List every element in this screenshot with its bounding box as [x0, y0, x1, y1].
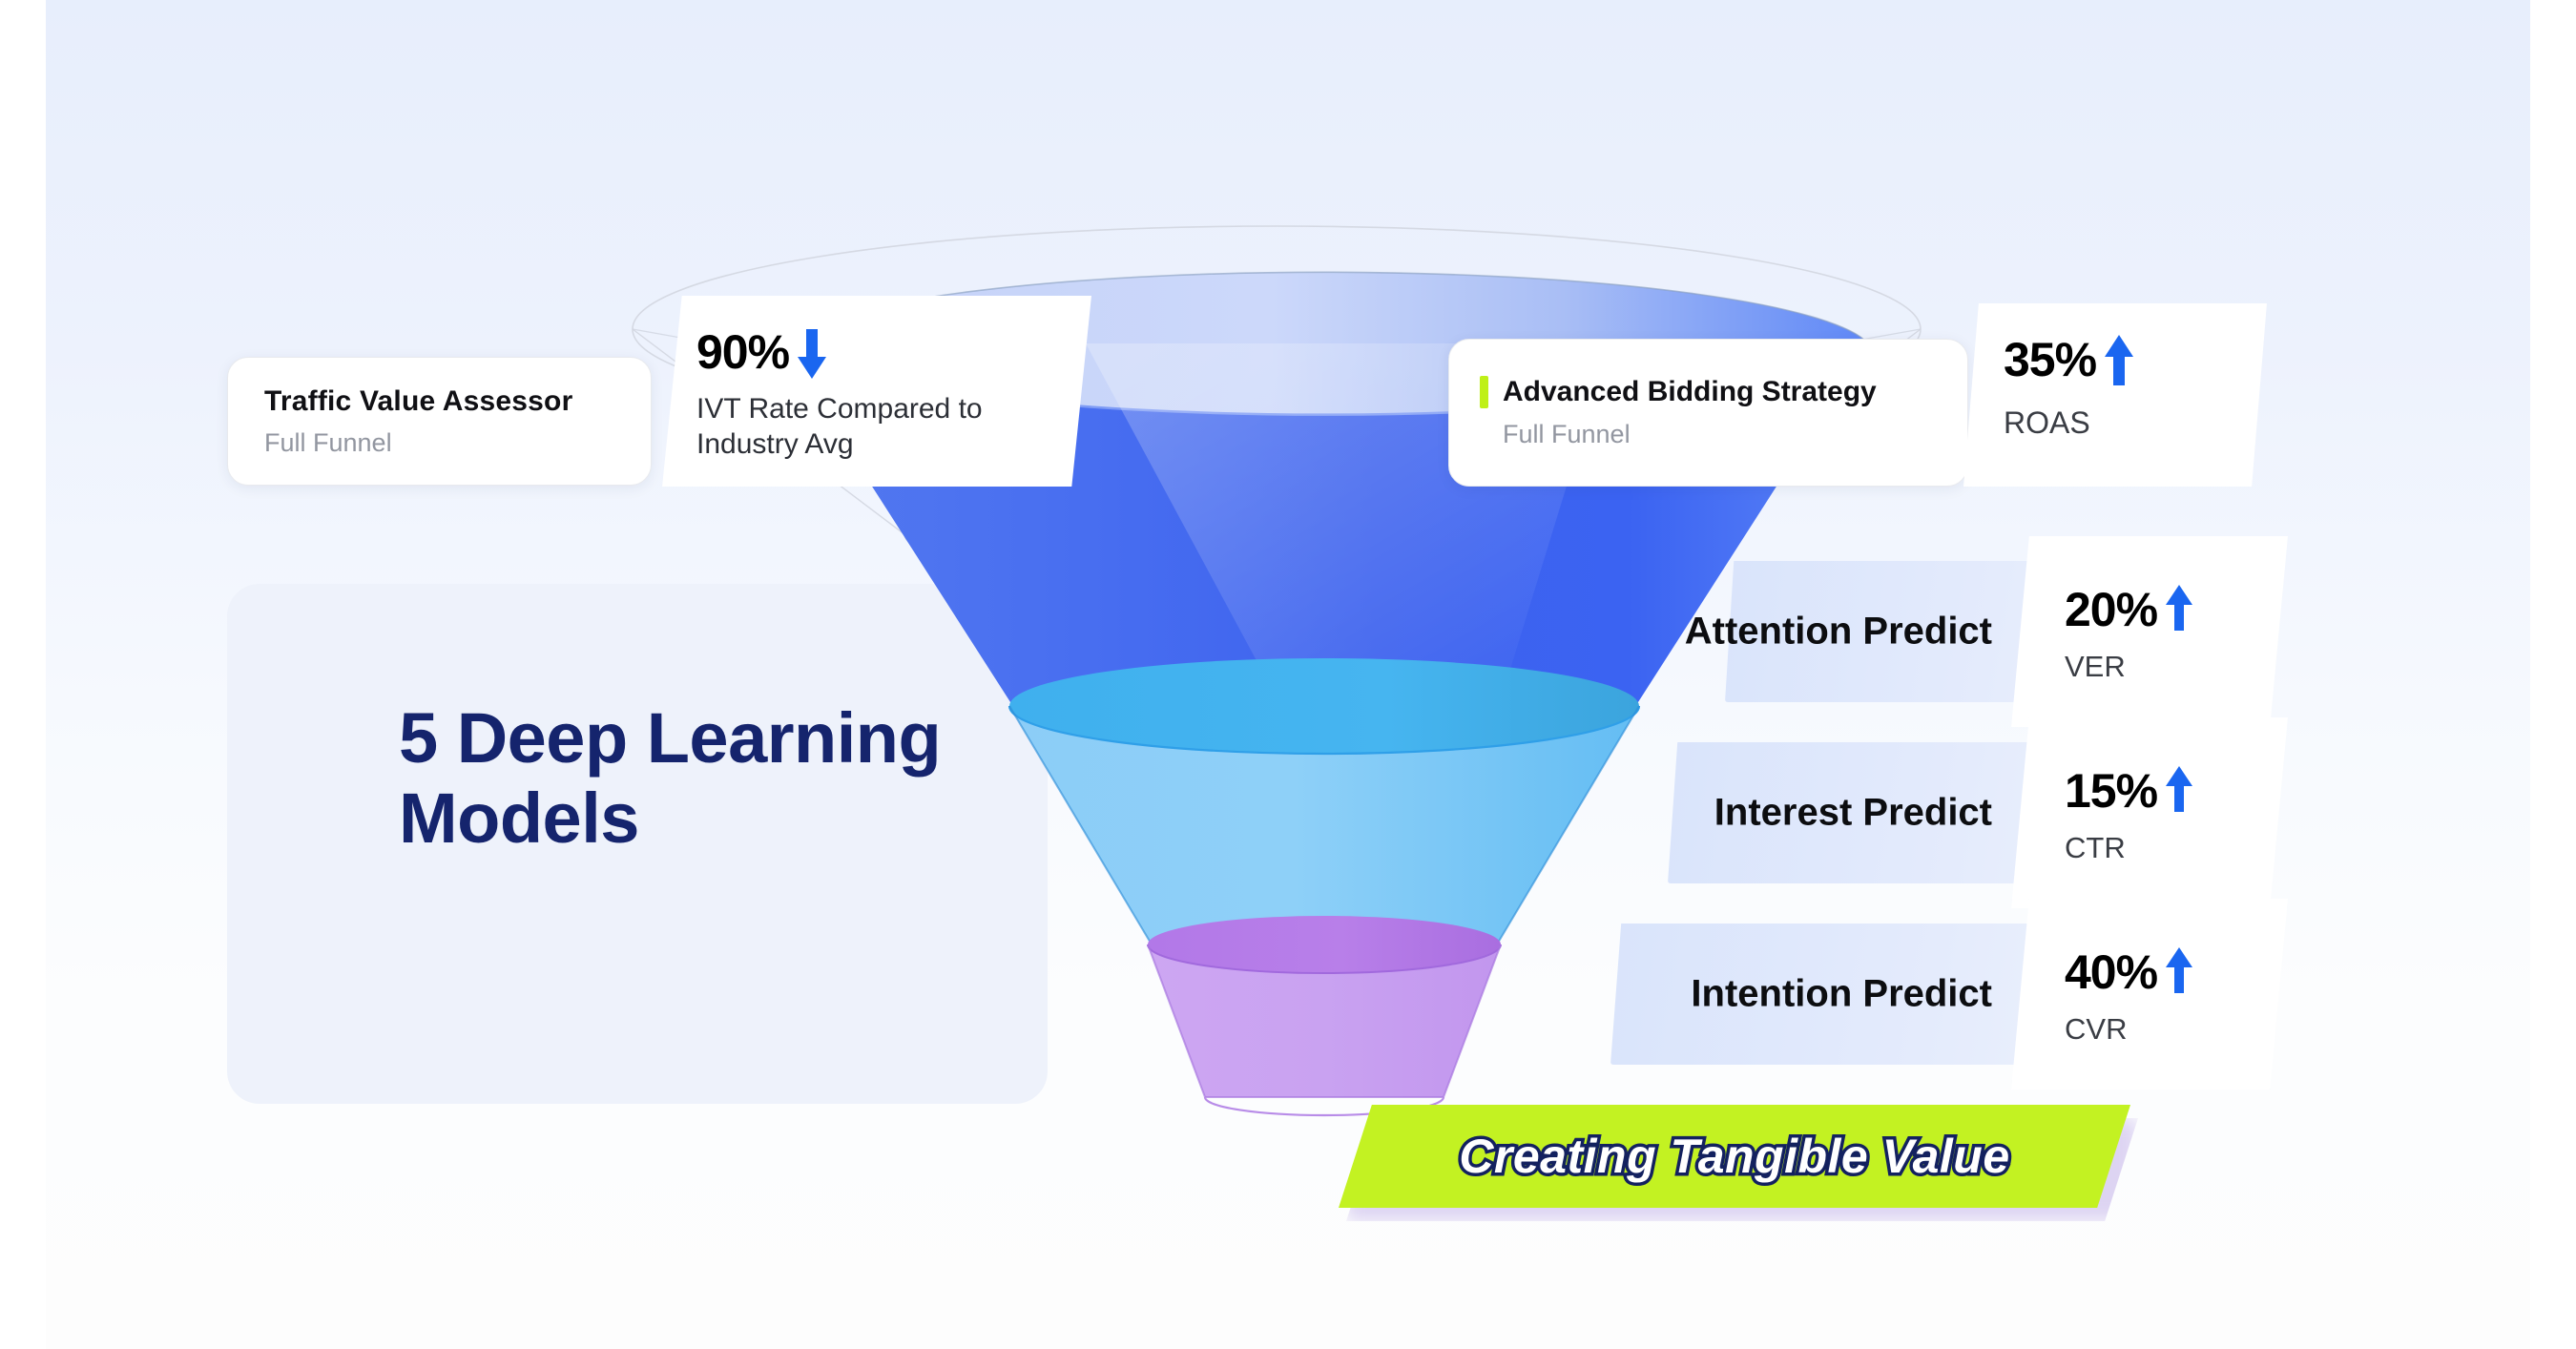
ivt-description: IVT Rate Compared to Industry Avg: [696, 392, 1091, 463]
card-ivt-rate[interactable]: 90% IVT Rate Compared to Industry Avg: [662, 296, 1091, 487]
arrow-up-icon: [2102, 332, 2136, 394]
card-traffic-value-assessor[interactable]: Traffic Value Assessor Full Funnel: [227, 357, 652, 486]
tangible-value-banner: Creating Tangible Value: [1339, 1105, 2130, 1208]
metric-chip[interactable]: 15% CTR: [2011, 717, 2288, 908]
arrow-down-icon: [795, 324, 829, 386]
card-title: Advanced Bidding Strategy: [1503, 376, 1877, 408]
arrow-up-icon: [2163, 582, 2195, 638]
accent-bar-icon: [1480, 376, 1488, 408]
card-title: Traffic Value Assessor: [264, 385, 651, 418]
metric-row-label: Intention Predict: [1691, 973, 1992, 1016]
metric-unit: CVR: [2065, 1012, 2288, 1047]
slide-canvas: 5 Deep Learning Models: [46, 0, 2530, 1349]
roas-percent: 35%: [2004, 332, 2096, 387]
metric-percent: 15%: [2065, 763, 2157, 819]
card-roas[interactable]: 35% ROAS: [1963, 303, 2267, 487]
metric-row-label: Attention Predict: [1685, 611, 1992, 654]
roas-unit: ROAS: [2004, 405, 2267, 441]
ivt-percent: 90%: [696, 324, 789, 380]
banner-text: Creating Tangible Value: [1459, 1129, 2009, 1184]
metric-row-interest[interactable]: Interest Predict 15% CTR: [1668, 742, 2278, 883]
metric-row-intention[interactable]: Intention Predict 40% CVR: [1610, 924, 2278, 1065]
funnel-stage-intention: [1148, 916, 1501, 1115]
metric-row-label: Interest Predict: [1714, 792, 1992, 835]
arrow-up-icon: [2163, 763, 2195, 820]
metric-percent: 20%: [2065, 582, 2157, 637]
metric-unit: CTR: [2065, 831, 2288, 865]
card-subtitle: Full Funnel: [264, 428, 651, 458]
metric-unit: VER: [2065, 650, 2288, 684]
card-subtitle: Full Funnel: [1503, 420, 1967, 449]
card-advanced-bidding-strategy[interactable]: Advanced Bidding Strategy Full Funnel: [1448, 339, 1968, 487]
metric-row-attention[interactable]: Attention Predict 20% VER: [1725, 561, 2278, 702]
arrow-up-icon: [2163, 944, 2195, 1001]
metric-chip[interactable]: 40% CVR: [2011, 899, 2288, 1090]
metric-percent: 40%: [2065, 944, 2157, 1000]
metric-chip[interactable]: 20% VER: [2011, 536, 2288, 727]
